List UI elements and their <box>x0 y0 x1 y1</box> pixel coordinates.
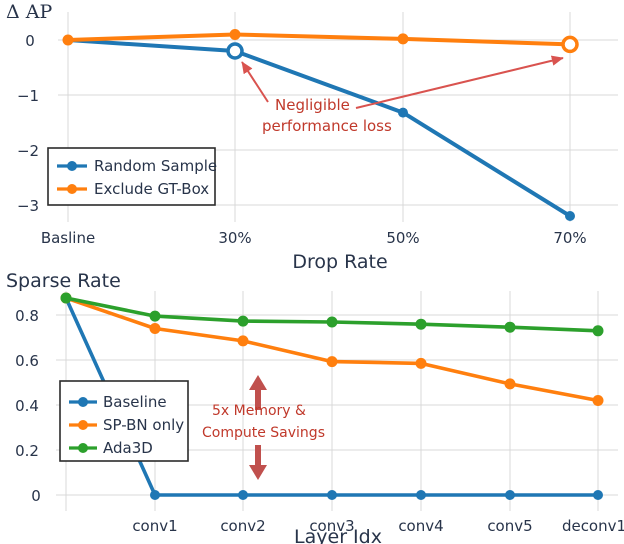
y-tick-2: −2 <box>17 142 39 160</box>
y-tick-1: −1 <box>17 87 39 105</box>
x-tick-basline: Basline <box>41 229 95 247</box>
data-point-bl-deconv1 <box>593 490 603 500</box>
data-point-bl-conv1 <box>150 490 160 500</box>
data-point-ada-conv2 <box>238 316 249 327</box>
figure-container: Δ AP 0 −1 −2 −3 <box>0 0 624 544</box>
x-tick-50: 50% <box>386 229 419 247</box>
y-tick-labels-top: 0 −1 −2 −3 <box>17 32 39 215</box>
x-axis-label-bottom: Layer Idx <box>294 526 382 544</box>
y-axis-label-bottom: Sparse Rate <box>6 270 121 292</box>
data-point-ada-conv4 <box>416 319 427 330</box>
legend-swatch-marker-blue-2 <box>78 397 88 407</box>
data-point-ada-conv1 <box>150 311 161 322</box>
data-point-ada-conv5 <box>505 322 516 333</box>
data-point-sp-deconv1 <box>593 395 604 406</box>
chart-sparse-rate: Sparse Rate 0 0.2 <box>0 265 624 544</box>
y-tick-0-8: 0.8 <box>15 307 39 325</box>
data-point-rs-30-open <box>228 44 242 58</box>
chart-sparse-rate-svg: Sparse Rate 0 0.2 <box>0 265 624 544</box>
data-point-ada-deconv1 <box>593 325 604 336</box>
y-tick-3: −3 <box>17 197 39 215</box>
data-point-sp-conv4 <box>416 358 427 369</box>
chart-delta-ap: Δ AP 0 −1 −2 −3 <box>0 0 624 272</box>
data-point-bl-conv2 <box>238 490 248 500</box>
legend-top[interactable]: Random Sample Exclude GT-Box <box>48 148 217 205</box>
data-point-ada-conv3 <box>327 317 338 328</box>
data-point-rs-70 <box>565 211 575 221</box>
data-point-eg-50 <box>398 33 409 44</box>
data-point-bl-conv5 <box>505 490 515 500</box>
x-tick-conv2: conv2 <box>220 517 265 535</box>
legend-swatch-marker-orange <box>67 184 77 194</box>
y-tick-labels-bottom: 0 0.2 0.4 0.6 0.8 <box>15 307 41 505</box>
x-tick-70: 70% <box>553 229 586 247</box>
data-point-sp-conv3 <box>327 356 338 367</box>
data-point-sp-conv2 <box>238 335 249 346</box>
y-tick-0-2: 0.2 <box>15 442 39 460</box>
x-tick-labels-top: Basline 30% 50% 70% <box>41 229 587 247</box>
x-tick-deconv1: deconv1 <box>562 517 624 535</box>
legend-label-baseline: Baseline <box>103 393 167 411</box>
annotation-arrow-right <box>356 58 563 108</box>
annotation-savings-text: 5x Memory & Compute Savings <box>202 403 325 441</box>
legend-label-random-sample: Random Sample <box>94 157 217 175</box>
data-point-sp-conv5 <box>505 378 516 389</box>
series-exclude-gt-box-line <box>68 35 570 45</box>
legend-swatch-marker-green <box>78 443 88 453</box>
annotation-savings-line-1: 5x Memory & <box>212 403 306 419</box>
x-tick-conv1: conv1 <box>132 517 177 535</box>
annotation-arrow-left <box>242 62 268 102</box>
y-tick-0: 0 <box>25 32 35 50</box>
y-tick-0: 0 <box>31 487 41 505</box>
legend-bottom[interactable]: Baseline SP-BN only Ada3D <box>60 381 188 461</box>
legend-swatch-marker-orange-2 <box>78 420 88 430</box>
x-tick-conv5: conv5 <box>487 517 532 535</box>
legend-label-exclude-gt-box: Exclude GT-Box <box>94 180 209 198</box>
annotation-savings-line-2: Compute Savings <box>202 425 325 441</box>
x-tick-conv4: conv4 <box>398 517 443 535</box>
annotation-line-2: performance loss <box>262 117 392 135</box>
data-point-sp-conv1 <box>150 323 161 334</box>
y-axis-label-top: Δ AP <box>6 1 52 23</box>
legend-swatch-marker-blue <box>67 161 77 171</box>
data-point-eg-70-open <box>563 37 577 51</box>
legend-label-sp-bn-only: SP-BN only <box>103 416 184 434</box>
annotation-line-1: Negligible <box>275 96 350 114</box>
y-tick-0-4: 0.4 <box>15 397 39 415</box>
y-tick-0-6: 0.6 <box>15 352 39 370</box>
data-point-bl-conv3 <box>327 490 337 500</box>
legend-label-ada3d: Ada3D <box>103 439 153 457</box>
x-tick-30: 30% <box>218 229 251 247</box>
data-point-bl-conv4 <box>416 490 426 500</box>
data-point-ada-base <box>61 293 72 304</box>
chart-delta-ap-svg: Δ AP 0 −1 −2 −3 <box>0 0 624 272</box>
data-point-eg-basline <box>63 35 74 46</box>
data-point-rs-50 <box>398 108 408 118</box>
data-point-eg-30 <box>230 29 241 40</box>
